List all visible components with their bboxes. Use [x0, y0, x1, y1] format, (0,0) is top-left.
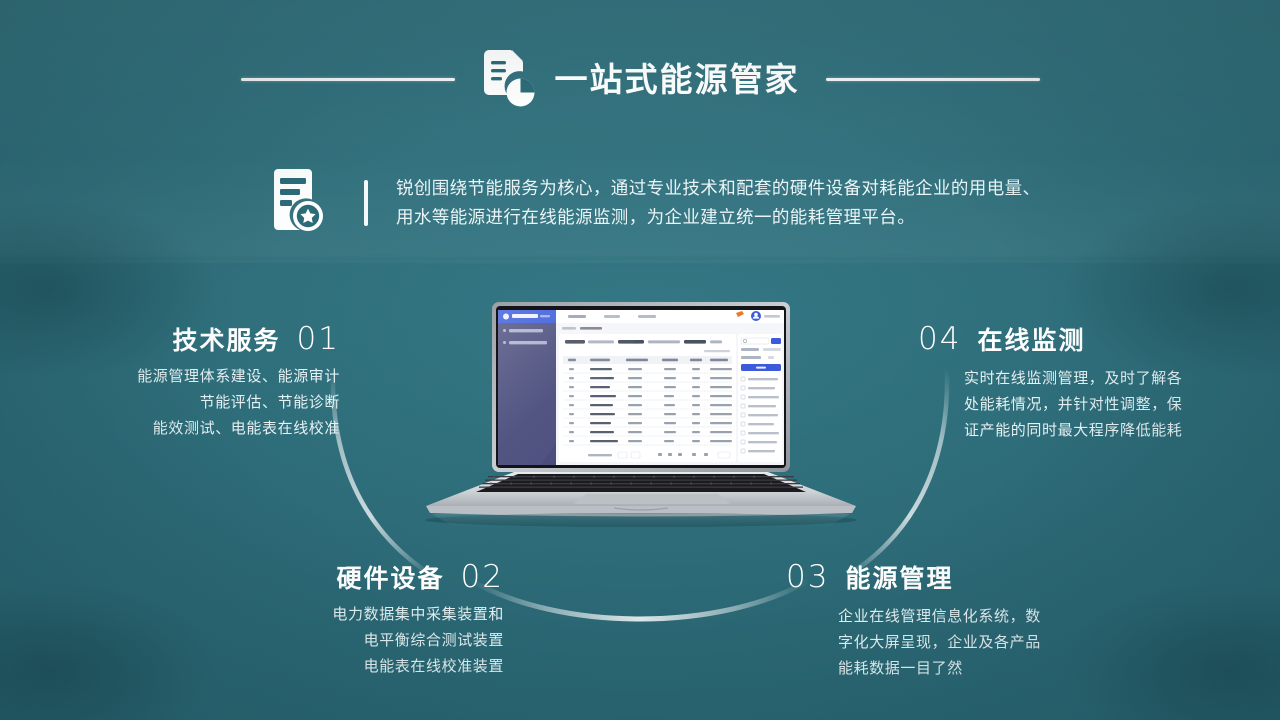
feature-01-name: 技术服务 — [173, 329, 281, 354]
laptop-mockup — [418, 296, 864, 528]
feature-04-number: 04 — [918, 324, 961, 355]
feature-04-desc: 实时在线监测管理，及时了解各 处能耗情况，并针对性调整，保 证产能的同时最大程序… — [918, 366, 1280, 443]
feature-04-name: 在线监测 — [977, 329, 1085, 354]
page-header: 一站式能源管家 — [0, 44, 1280, 114]
feature-03-name: 能源管理 — [845, 567, 953, 592]
feature-03-head: 03 能源管理 — [786, 562, 1166, 593]
feature-02-desc-line-2: 电平衡综合测试装置 — [124, 628, 504, 654]
feature-03-desc-line-2: 字化大屏呈现，企业及各产品 — [838, 630, 1166, 656]
feature-02-desc-line-3: 电能表在线校准装置 — [124, 654, 504, 680]
feature-03-number: 03 — [786, 562, 829, 593]
feature-01-desc-line-3: 能效测试、电能表在线校准 — [0, 416, 340, 442]
intro-line-1: 锐创围绕节能服务为核心，通过专业技术和配套的硬件设备对耗能企业的用电量、 — [396, 174, 1040, 203]
intro-row: 锐创围绕节能服务为核心，通过专业技术和配套的硬件设备对耗能企业的用电量、 用水等… — [268, 162, 1220, 244]
feature-04-desc-line-2: 处能耗情况，并针对性调整，保 — [964, 392, 1280, 418]
intro-separator-bar — [364, 180, 368, 226]
feature-block-02: 硬件设备 02 电力数据集中采集装置和 电平衡综合测试装置 电能表在线校准装置 — [124, 562, 504, 679]
feature-01-desc-line-1: 能源管理体系建设、能源审计 — [0, 364, 340, 390]
intro-text: 锐创围绕节能服务为核心，通过专业技术和配套的硬件设备对耗能企业的用电量、 用水等… — [396, 174, 1040, 232]
document-star-icon — [268, 169, 330, 237]
feature-02-head: 硬件设备 02 — [124, 562, 504, 593]
feature-02-desc-line-1: 电力数据集中采集装置和 — [124, 602, 504, 628]
document-chart-icon — [481, 50, 535, 108]
feature-01-number: 01 — [297, 324, 340, 355]
feature-block-03: 03 能源管理 企业在线管理信息化系统，数 字化大屏呈现，企业及各产品 能耗数据… — [786, 562, 1166, 681]
feature-02-name: 硬件设备 — [337, 567, 445, 592]
feature-02-desc: 电力数据集中采集装置和 电平衡综合测试装置 电能表在线校准装置 — [124, 602, 504, 679]
feature-04-head: 04 在线监测 — [918, 324, 1280, 355]
feature-02-number: 02 — [461, 562, 504, 593]
intro-line-2: 用水等能源进行在线能源监测，为企业建立统一的能耗管理平台。 — [396, 203, 1040, 232]
header-rule-left — [241, 78, 455, 81]
feature-01-head: 技术服务 01 — [0, 324, 340, 355]
page-title: 一站式能源管家 — [555, 63, 800, 96]
header-rule-right — [826, 78, 1040, 81]
feature-03-desc-line-3: 能耗数据一目了然 — [838, 656, 1166, 682]
feature-block-01: 技术服务 01 能源管理体系建设、能源审计 节能评估、节能诊断 能效测试、电能表… — [0, 324, 340, 441]
feature-block-04: 04 在线监测 实时在线监测管理，及时了解各 处能耗情况，并针对性调整，保 证产… — [918, 324, 1280, 443]
feature-03-desc-line-1: 企业在线管理信息化系统，数 — [838, 604, 1166, 630]
header-title-group: 一站式能源管家 — [481, 50, 800, 108]
feature-04-desc-line-1: 实时在线监测管理，及时了解各 — [964, 366, 1280, 392]
slide-stage: 一站式能源管家 锐创围绕节能服务为核心，通过专业技术和配套的硬件设备对耗能企业的… — [0, 0, 1280, 720]
feature-01-desc: 能源管理体系建设、能源审计 节能评估、节能诊断 能效测试、电能表在线校准 — [0, 364, 340, 441]
feature-03-desc: 企业在线管理信息化系统，数 字化大屏呈现，企业及各产品 能耗数据一目了然 — [786, 604, 1166, 681]
feature-04-desc-line-3: 证产能的同时最大程序降低能耗 — [964, 418, 1280, 444]
header-band-divider — [0, 261, 1280, 264]
feature-01-desc-line-2: 节能评估、节能诊断 — [0, 390, 340, 416]
